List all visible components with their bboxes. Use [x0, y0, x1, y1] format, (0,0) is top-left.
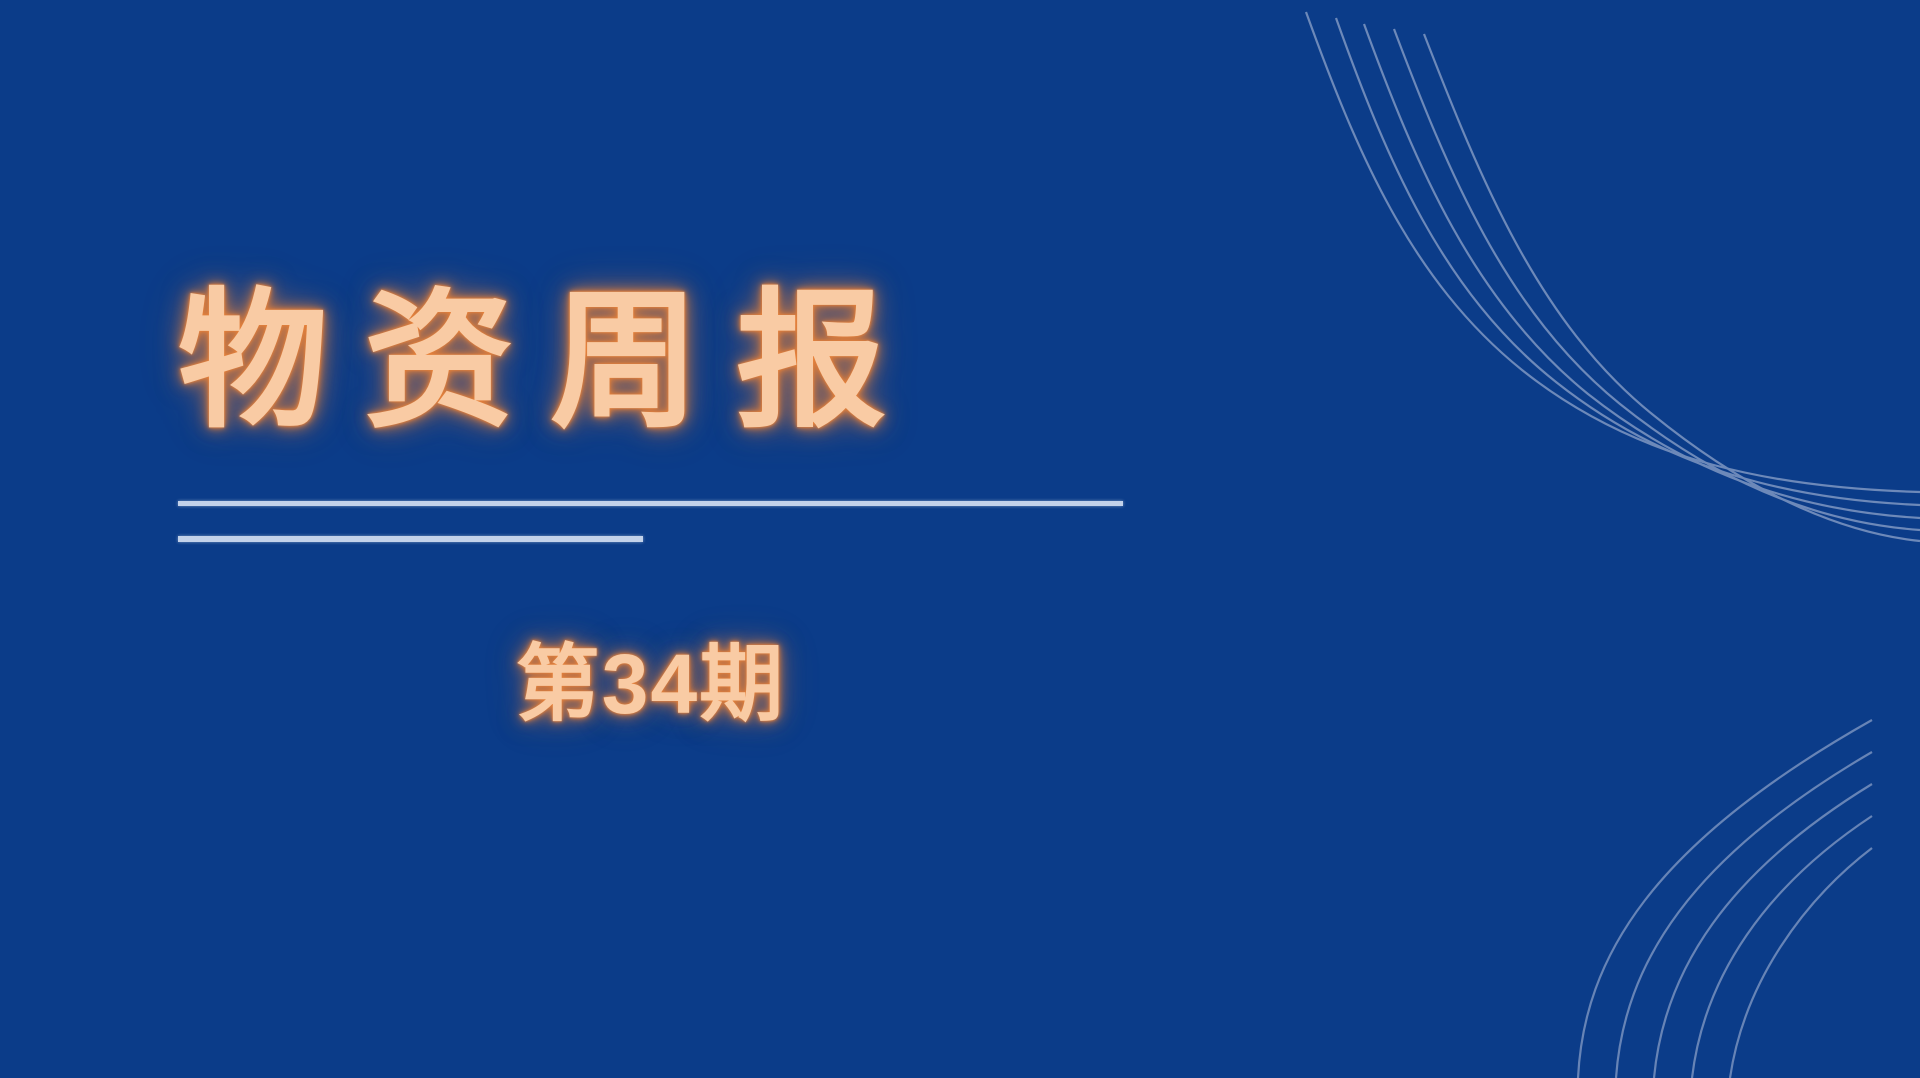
arc-line-2: [1616, 752, 1872, 1078]
decorative-curves-bottom-right: [1260, 658, 1920, 1078]
curve-line-3: [1364, 24, 1920, 518]
decorative-curves-top-right: [1260, 0, 1920, 580]
arc-line-4: [1692, 816, 1872, 1078]
page-subtitle: 第34期: [178, 642, 1123, 726]
curve-line-4: [1394, 29, 1920, 530]
title-block: 物资周报: [178, 286, 1178, 436]
arc-line-1: [1578, 720, 1872, 1078]
curve-line-5: [1424, 34, 1920, 541]
curve-line-2: [1336, 18, 1920, 505]
curve-line-1: [1306, 12, 1920, 492]
arc-line-5: [1730, 848, 1872, 1078]
title-underline-short: [178, 536, 643, 542]
presentation-slide: 物资周报 第34期: [0, 0, 1920, 1078]
title-underline-long: [178, 501, 1123, 506]
arc-line-3: [1654, 784, 1872, 1078]
page-title: 物资周报: [178, 286, 1178, 436]
